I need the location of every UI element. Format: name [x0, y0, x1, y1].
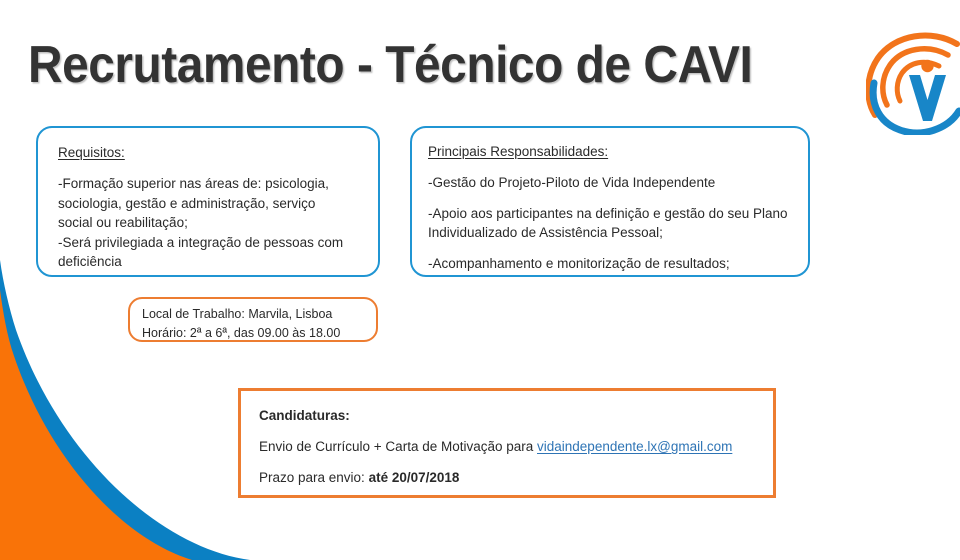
logo-head-dot — [921, 60, 933, 72]
page-title: Recrutamento - Técnico de CAVI — [28, 34, 752, 96]
candidaturas-box: Candidaturas: Envio de Currículo + Carta… — [238, 388, 776, 498]
local-trabalho-line: Local de Trabalho: Marvila, Lisboa — [142, 305, 366, 324]
requisitos-line-3: social ou reabilitação; — [58, 213, 360, 233]
requisitos-line-4: -Será privilegiada a integração de pesso… — [58, 233, 360, 253]
requisitos-heading: Requisitos: — [58, 144, 360, 161]
responsabilidades-item-3: -Acompanhamento e monitorização de resul… — [428, 254, 792, 274]
requisitos-line-1: -Formação superior nas áreas de: psicolo… — [58, 174, 360, 194]
candidaturas-prazo-line: Prazo para envio: até 20/07/2018 — [259, 468, 773, 488]
vida-independente-logo-icon — [866, 31, 960, 135]
candidaturas-prazo-prefix: Prazo para envio: — [259, 470, 369, 485]
candidaturas-envio-prefix: Envio de Currículo + Carta de Motivação … — [259, 439, 537, 454]
requisitos-line-2: sociologia, gestão e administração, serv… — [58, 194, 360, 214]
horario-line: Horário: 2ª a 6ª, das 09.00 às 18.00 — [142, 324, 366, 343]
candidaturas-envio-line: Envio de Currículo + Carta de Motivação … — [259, 437, 773, 457]
responsabilidades-heading: Principais Responsabilidades: — [428, 143, 792, 160]
title-row: Recrutamento - Técnico de CAVI — [28, 34, 938, 120]
requisitos-line-5: deficiência — [58, 252, 360, 272]
candidaturas-email-link[interactable]: vidaindependente.lx@gmail.com — [537, 439, 732, 454]
responsabilidades-box: Principais Responsabilidades: -Gestão do… — [410, 126, 810, 277]
slide-canvas: Recrutamento - Técnico de CAVI Requisito… — [0, 0, 960, 560]
logo-v-figure — [909, 75, 946, 121]
candidaturas-heading: Candidaturas: — [259, 407, 773, 424]
candidaturas-prazo-value: até 20/07/2018 — [369, 470, 460, 485]
local-trabalho-box: Local de Trabalho: Marvila, Lisboa Horár… — [128, 297, 378, 342]
responsabilidades-item-1: -Gestão do Projeto-Piloto de Vida Indepe… — [428, 173, 792, 193]
responsabilidades-item-2: -Apoio aos participantes na definição e … — [428, 204, 792, 243]
requisitos-box: Requisitos: -Formação superior nas áreas… — [36, 126, 380, 277]
